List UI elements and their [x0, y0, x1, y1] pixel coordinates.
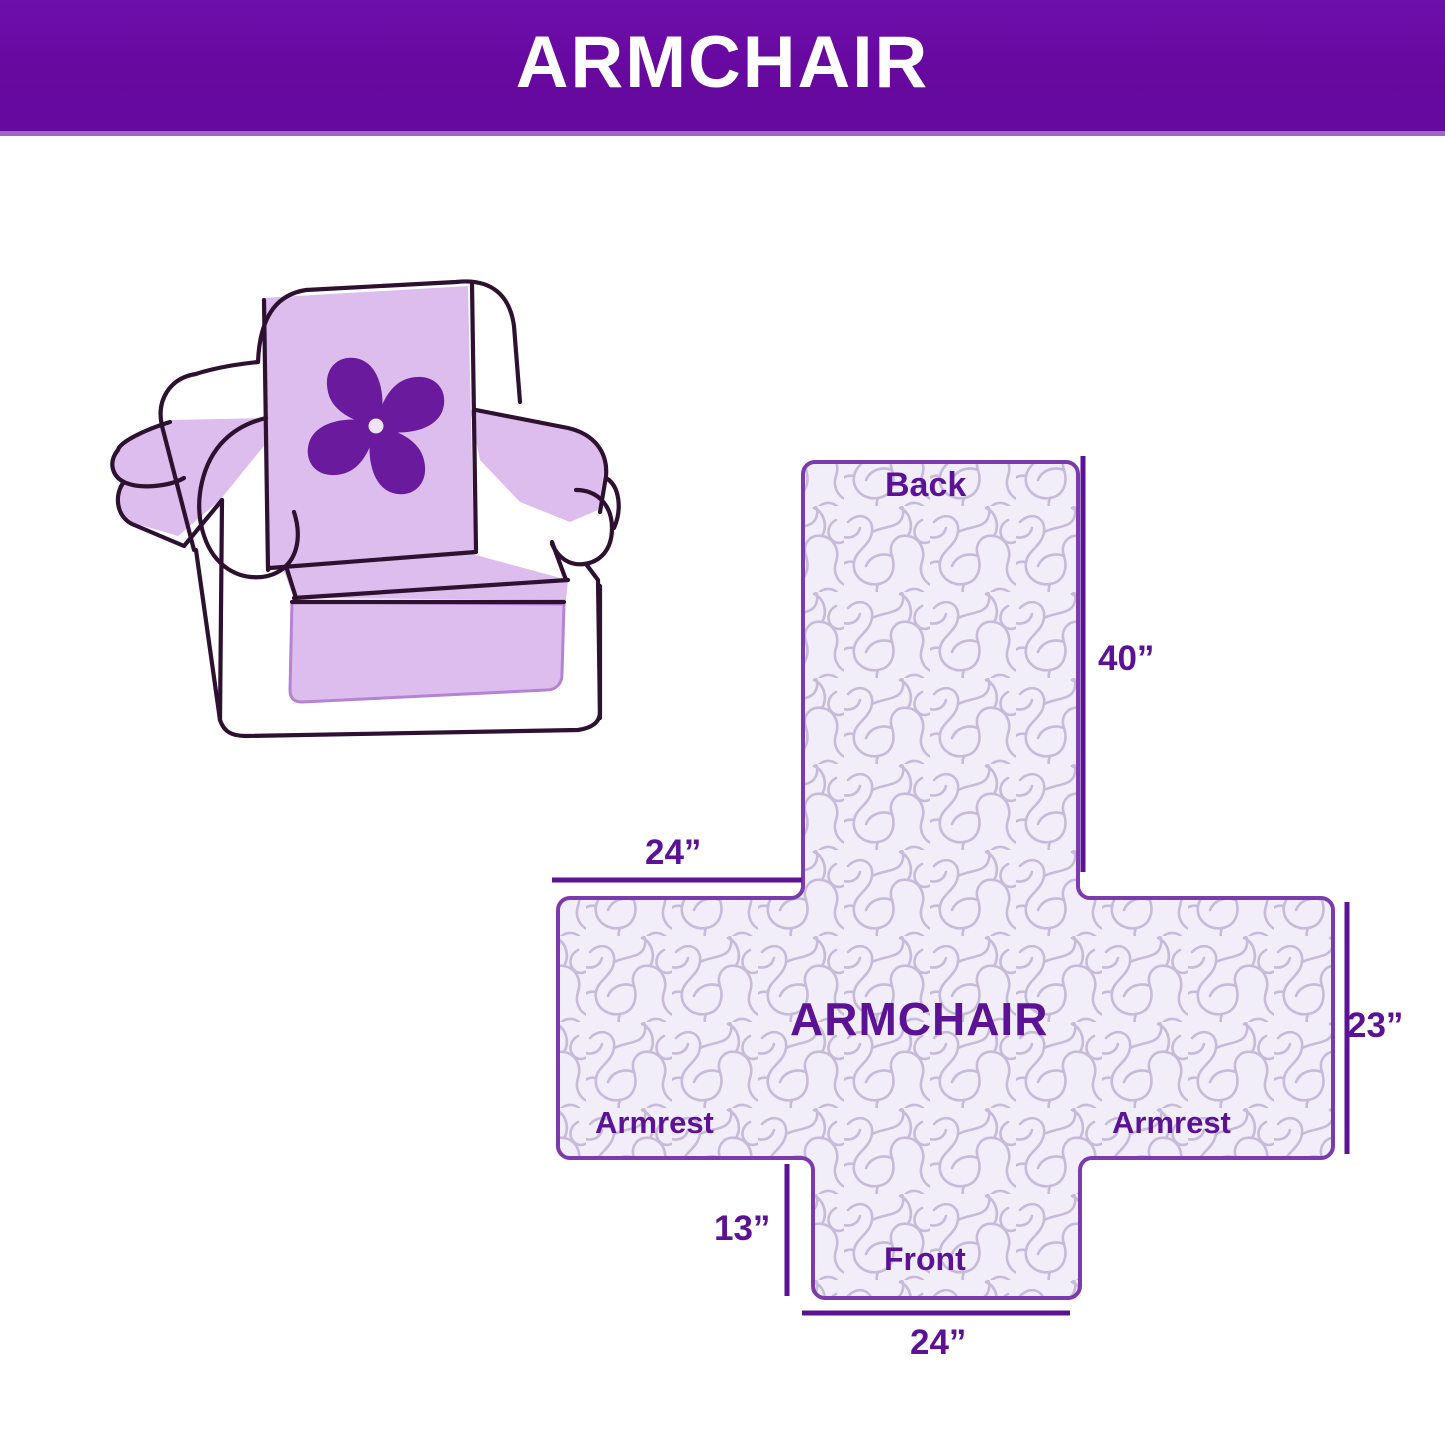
panel-label-back: Back: [885, 468, 966, 502]
dimension-label-armrest-width: 24”: [645, 835, 701, 870]
dimension-label-front-depth: 13”: [714, 1211, 770, 1246]
panel-label-armrest-right: Armrest: [1112, 1107, 1231, 1138]
dimension-label-back-height: 40”: [1098, 641, 1154, 676]
page-title: ARMCHAIR: [0, 0, 1445, 131]
dimension-label-front-width: 24”: [910, 1325, 966, 1360]
product-dimension-diagram: ARMCHAIR: [0, 0, 1445, 1445]
panel-label-armrest-left: Armrest: [595, 1107, 714, 1138]
panel-label-front: Front: [884, 1243, 966, 1275]
panel-label-armchair: ARMCHAIR: [790, 996, 1048, 1042]
slipcover-pattern-diagram: [500, 420, 1430, 1360]
header-underline-divider: [0, 131, 1445, 136]
pinwheel-fan-logo: [308, 358, 444, 494]
dimension-label-center-height: 23”: [1347, 1008, 1403, 1043]
